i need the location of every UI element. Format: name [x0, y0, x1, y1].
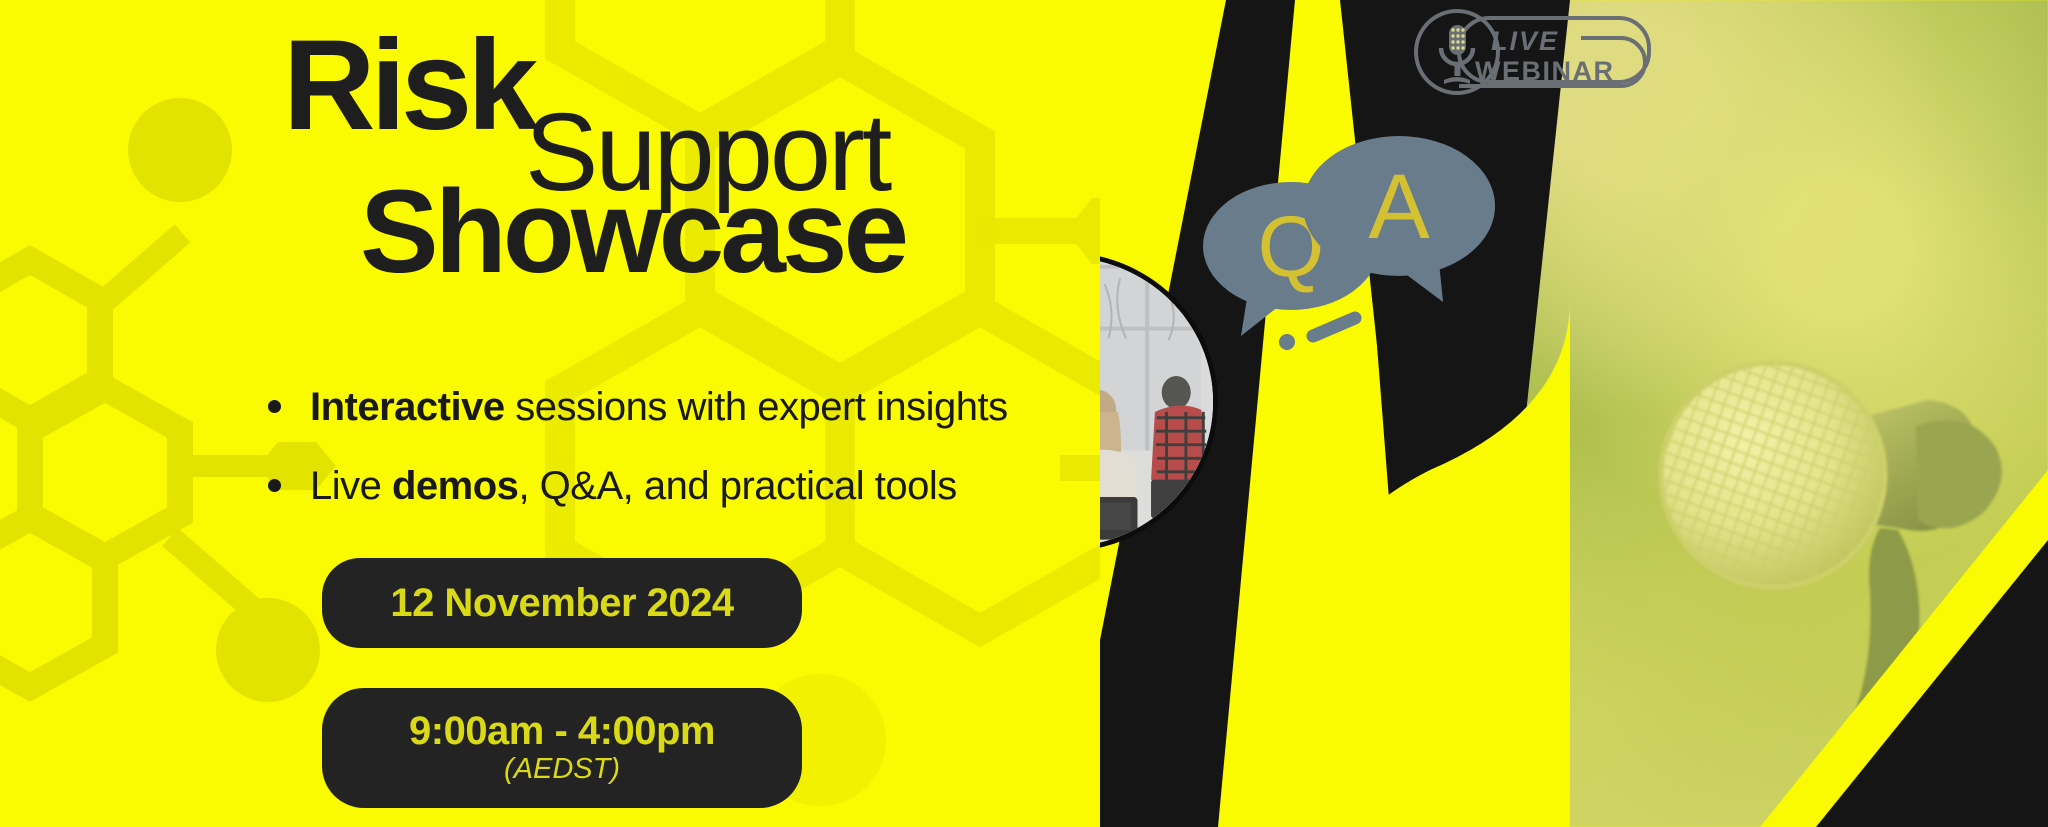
bullet-bold-text: demos — [392, 464, 518, 508]
right-media-panel: LIVE WEBINAR Q A — [1100, 0, 2048, 827]
bullet-bold-text: Interactive — [310, 385, 505, 429]
bullet-rest-text: , Q&A, and practical tools — [518, 464, 956, 508]
feature-bullet-list: Interactive sessions with expert insight… — [310, 385, 1140, 543]
geometric-wedge-overlay — [1100, 0, 2048, 827]
bullet-dot-icon — [268, 400, 281, 413]
live-webinar-badge: LIVE WEBINAR — [1413, 8, 1658, 96]
qa-speech-bubbles: Q A — [1195, 130, 1515, 350]
title-line-risk: Risk — [283, 22, 533, 150]
event-time-text: 9:00am - 4:00pm — [409, 710, 715, 752]
banner-title: Risk Support Showcase — [260, 8, 1140, 298]
live-badge-line2: WEBINAR — [1475, 56, 1615, 86]
bullet-dot-icon — [268, 479, 281, 492]
bubble-trail-dots-icon — [1279, 318, 1355, 350]
event-time-badge: 9:00am - 4:00pm (AEDST) — [322, 688, 802, 808]
event-date-text: 12 November 2024 — [390, 582, 733, 624]
bullet-lead-text: Live — [310, 464, 392, 508]
live-badge-line1: LIVE — [1491, 26, 1559, 56]
event-date-badge: 12 November 2024 — [322, 558, 802, 648]
list-item: Interactive sessions with expert insight… — [310, 385, 1140, 429]
webinar-banner: Risk Support Showcase Interactive sessio… — [0, 0, 2048, 827]
event-timezone-text: (AEDST) — [504, 754, 620, 786]
list-item: Live demos, Q&A, and practical tools — [310, 464, 1140, 508]
answer-letter: A — [1368, 156, 1430, 258]
bullet-rest-text: sessions with expert insights — [505, 385, 1008, 429]
title-line-showcase: Showcase — [360, 173, 905, 291]
